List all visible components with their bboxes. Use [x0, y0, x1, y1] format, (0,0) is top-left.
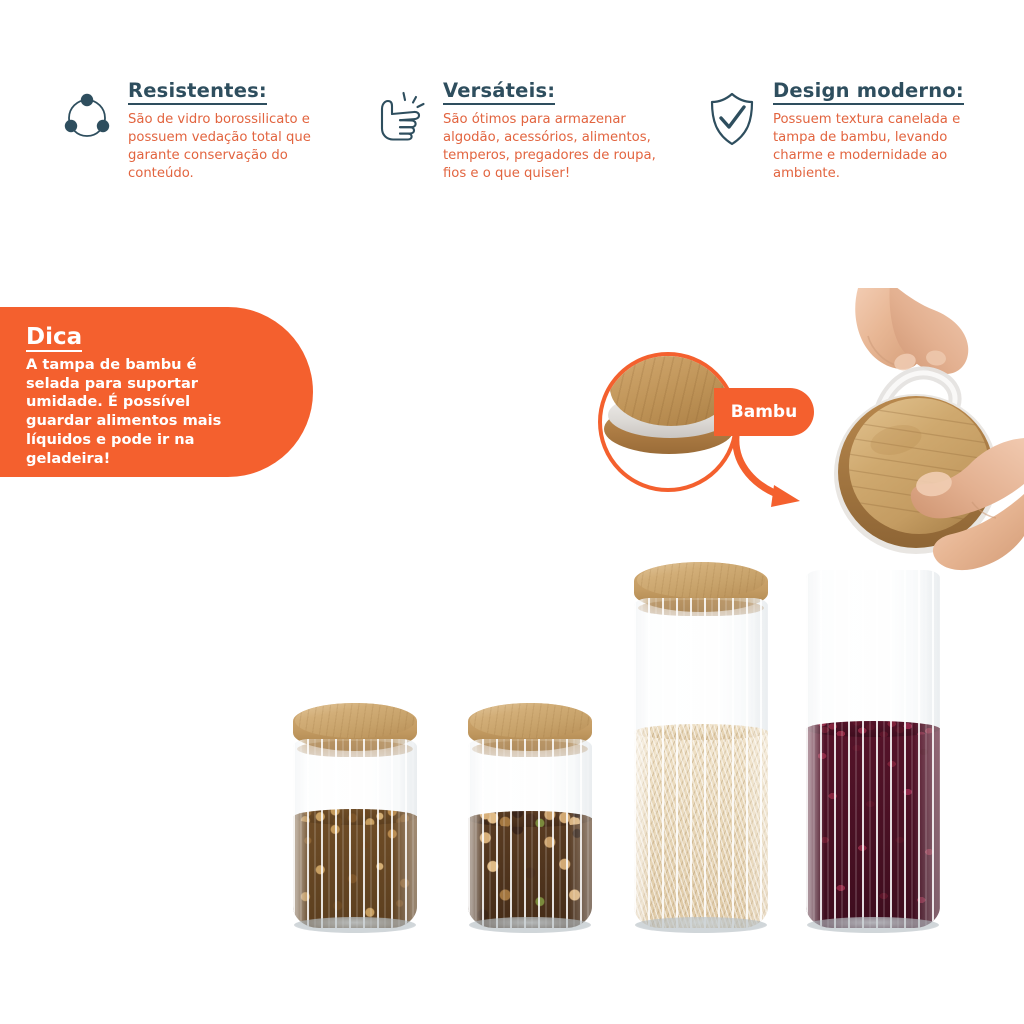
jar-small-granola — [293, 703, 417, 928]
jar-base — [635, 917, 766, 933]
pointing-hand-icon — [373, 78, 431, 148]
infographic-page: Resistentes: São de vidro borossilicato … — [0, 0, 1024, 1024]
upper-hand — [855, 288, 968, 374]
contents-surface — [468, 811, 592, 827]
shield-check-icon — [703, 78, 761, 148]
lid-top-face — [637, 562, 766, 598]
tip-callout: Dica A tampa de bambu é selada para supo… — [0, 307, 313, 477]
lid-top-face — [295, 703, 414, 738]
feature-title: Versáteis: — [443, 80, 555, 105]
jar-neck — [297, 741, 414, 757]
tip-title: Dica — [26, 325, 82, 352]
jar-contents-nuts — [468, 818, 592, 928]
tip-text: A tampa de bambu é selada para suportar … — [26, 356, 252, 468]
jar-neck — [638, 600, 764, 616]
jar-base — [807, 917, 938, 933]
glass-jar-body — [468, 739, 592, 928]
feature-title: Design moderno: — [773, 80, 964, 105]
contents-surface — [634, 724, 768, 740]
jar-contents-beans — [806, 728, 940, 928]
feature-body: Versáteis: São ótimos para armazenar alg… — [443, 78, 673, 183]
jar-tall-rice — [634, 562, 768, 928]
wood-grain — [470, 703, 589, 738]
feature-resistentes: Resistentes: São de vidro borossilicato … — [58, 78, 358, 183]
feature-body: Design moderno: Possuem textura canelada… — [773, 78, 1003, 183]
jar-small-nuts — [468, 703, 592, 928]
wood-grain — [295, 703, 414, 738]
lid-top-face — [470, 703, 589, 738]
jar-neck — [472, 741, 589, 757]
feature-text: São ótimos para armazenar algodão, acess… — [443, 111, 668, 182]
feature-title: Resistentes: — [128, 80, 267, 105]
hands-holding-lid — [806, 288, 1024, 580]
feature-design-moderno: Design moderno: Possuem textura canelada… — [703, 78, 1003, 183]
jar-base — [294, 917, 416, 933]
jar-base — [469, 917, 591, 933]
glass-jar-body — [293, 739, 417, 928]
feature-text: Possuem textura canelada e tampa de bamb… — [773, 111, 998, 182]
circle-three-dots-icon — [58, 78, 116, 148]
jar-contents-rice — [634, 731, 768, 928]
bambu-label-text: Bambu — [731, 402, 797, 422]
jar-contents-granola — [293, 816, 417, 928]
feature-text: São de vidro borossilicato e possuem ved… — [128, 111, 353, 182]
contents-surface — [293, 809, 417, 825]
bambu-label-pill: Bambu — [714, 388, 814, 436]
glass-jar-body-open — [806, 570, 940, 928]
wood-grain — [637, 562, 766, 598]
feature-body: Resistentes: São de vidro borossilicato … — [128, 78, 358, 183]
contents-surface — [806, 721, 940, 737]
features-row: Resistentes: São de vidro borossilicato … — [0, 78, 1024, 218]
feature-versateis: Versáteis: São ótimos para armazenar alg… — [373, 78, 673, 183]
jar-tall-beans — [806, 570, 940, 928]
glass-jar-body — [634, 598, 768, 928]
